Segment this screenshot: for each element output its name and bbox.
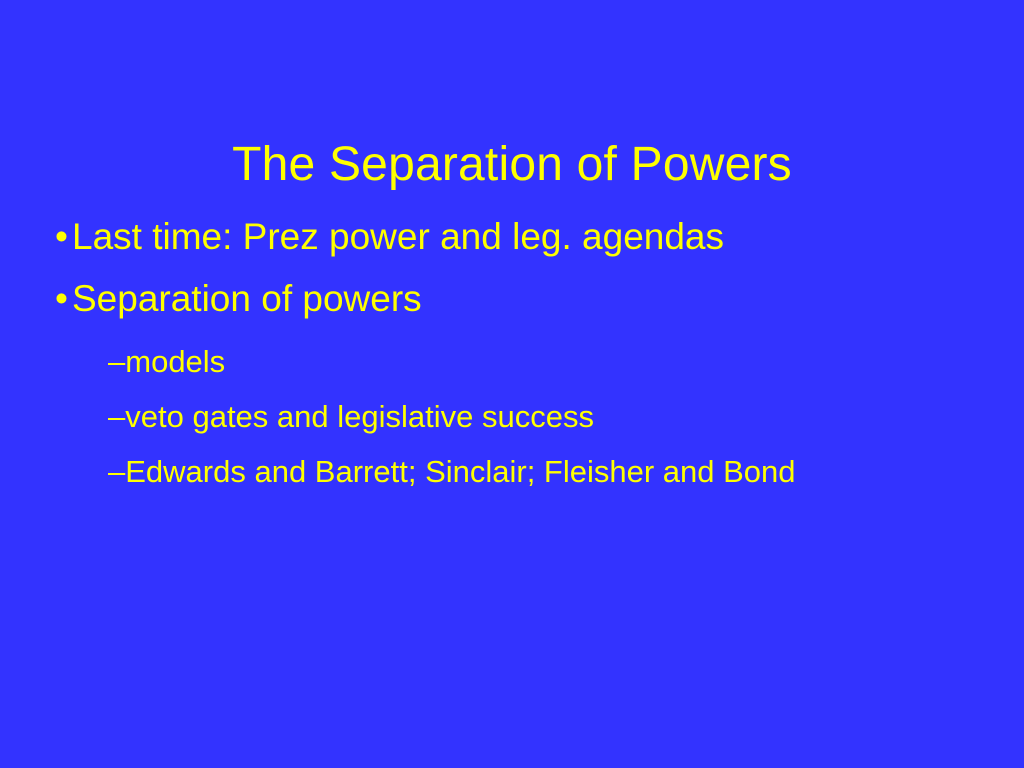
slide-body: •Last time: Prez power and leg. agendas … (0, 218, 1024, 492)
dash-marker-icon: – (108, 344, 125, 379)
list-item: •Separation of powers (0, 280, 1024, 318)
list-item-label: Last time: Prez power and leg. agendas (72, 216, 724, 257)
list-item-label: Separation of powers (72, 278, 422, 319)
slide-canvas: The Separation of Powers •Last time: Pre… (0, 0, 1024, 768)
bullet-marker-icon: • (55, 218, 68, 256)
list-item: •Last time: Prez power and leg. agendas (0, 218, 1024, 256)
sub-list-item: –models (0, 342, 1024, 382)
sub-list-item: –veto gates and legislative success (0, 397, 1024, 437)
sub-list-item-label: Edwards and Barrett; Sinclair; Fleisher … (125, 454, 795, 489)
sub-list-item: –Edwards and Barrett; Sinclair; Fleisher… (0, 452, 1024, 492)
dash-marker-icon: – (108, 454, 125, 489)
sub-list-item-label: models (125, 344, 225, 379)
dash-marker-icon: – (108, 399, 125, 434)
page-title: The Separation of Powers (60, 136, 964, 194)
bullet-marker-icon: • (55, 280, 68, 318)
sub-list-item-label: veto gates and legislative success (125, 399, 594, 434)
